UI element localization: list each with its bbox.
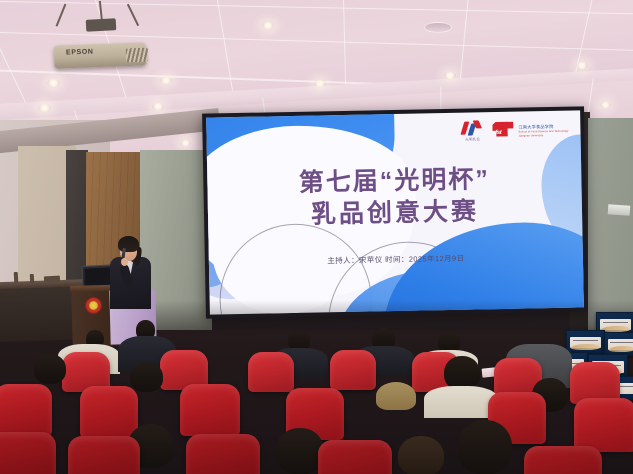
- ceiling-projector: EPSON: [48, 17, 156, 73]
- product-box: [604, 332, 633, 356]
- table-object-3: [44, 276, 60, 283]
- downlight-4: [152, 103, 164, 110]
- attendee-head: [130, 362, 163, 392]
- attendee-with-tan-cap: [376, 382, 416, 410]
- slide-title: 第七届“光明杯” 乳品创意大赛: [207, 162, 582, 232]
- product-box: [566, 330, 605, 354]
- projection-screen: 光明乳业 sfst 江南大学食品学院 School of Food Scienc…: [206, 110, 584, 314]
- red-theater-seat: [248, 352, 294, 392]
- downlight-5: [160, 77, 172, 84]
- downlight-7: [314, 80, 326, 87]
- wall-sign-plate: [608, 204, 631, 216]
- auditorium-photo: EPSON: [0, 0, 633, 474]
- table-object-2: [30, 274, 34, 283]
- slide-logo-row: 光明乳业 sfst 江南大学食品学院 School of Food Scienc…: [461, 119, 568, 143]
- sfst-name-en2: Jiangnan University: [519, 133, 569, 137]
- downlight-10: [576, 62, 588, 69]
- red-theater-seat: [80, 386, 138, 438]
- guangming-dairy-logo: 光明乳业: [461, 120, 483, 142]
- attendee-head: [276, 428, 324, 474]
- red-theater-seat: [180, 384, 240, 436]
- downlight-1: [38, 104, 51, 112]
- downlight-9: [444, 72, 456, 79]
- downlight-6: [262, 22, 274, 29]
- red-theater-seat: [0, 384, 52, 436]
- red-theater-seat: [330, 350, 376, 390]
- downlight-11: [600, 102, 611, 108]
- jiangnan-sfst-logo: sfst 江南大学食品学院 School of Food Science and…: [490, 120, 568, 140]
- attendee-shoulders: [424, 386, 498, 418]
- sfst-mark-icon: sfst: [490, 121, 515, 140]
- red-theater-seat: [0, 432, 56, 474]
- projection-screen-frame: 光明乳业 sfst 江南大学食品学院 School of Food Scienc…: [202, 106, 588, 318]
- projector-vent-icon: [126, 48, 148, 63]
- sfst-mark-text: sfst: [492, 129, 501, 135]
- sfst-name-block: 江南大学食品学院 School of Food Science and Tech…: [518, 123, 568, 137]
- downlight-2: [47, 79, 60, 87]
- attendee-head: [458, 420, 512, 474]
- red-theater-seat: [574, 398, 633, 452]
- red-theater-seat: [68, 436, 140, 474]
- table-object-1: [14, 272, 19, 283]
- attendee-head: [398, 436, 444, 474]
- guangming-mark-icon: [461, 120, 483, 136]
- red-theater-seat: [318, 440, 392, 474]
- national-emblem-plaque: [85, 297, 102, 314]
- product-box-art: [609, 346, 633, 353]
- attendee-head: [34, 354, 66, 384]
- ceiling-vent: [424, 22, 452, 33]
- red-theater-seat: [524, 446, 602, 474]
- red-theater-seat: [186, 434, 260, 474]
- attendee-head: [444, 356, 480, 390]
- projector-brand-label: EPSON: [66, 49, 94, 57]
- guangming-logo-caption: 光明乳业: [465, 137, 480, 142]
- presenter-hand: [121, 258, 128, 266]
- product-box-art: [571, 344, 599, 351]
- projector-mount-bracket: [86, 18, 117, 32]
- downlight-8: [180, 140, 191, 146]
